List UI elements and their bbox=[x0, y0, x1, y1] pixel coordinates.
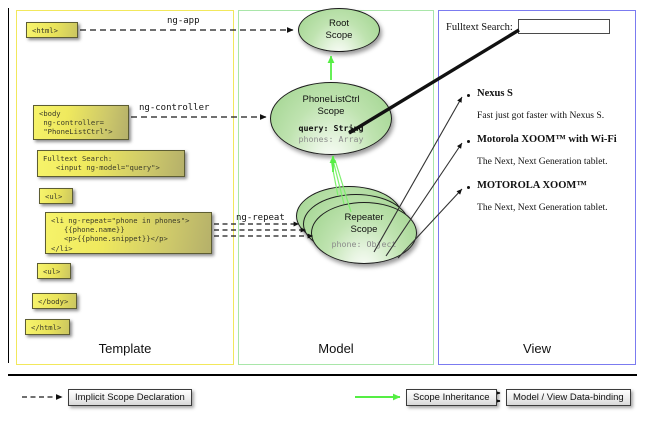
label-ng-repeat: ng-repeat bbox=[236, 213, 285, 223]
scope-field-phones: phones: Array bbox=[271, 134, 391, 145]
view-phone-name-0: Nexus S bbox=[477, 88, 513, 99]
view-phone-snippet-2: The Next, Next Generation tablet. bbox=[477, 202, 608, 213]
left-frame-rule bbox=[8, 8, 9, 363]
code-li-repeat-snippet: <li ng-repeat="phone in phones"> {{phone… bbox=[45, 212, 212, 254]
code-html-open-tag: <html> bbox=[26, 22, 78, 38]
view-phone-name-1: Motorola XOOM™ with Wi-Fi bbox=[477, 134, 617, 145]
view-bullet-1 bbox=[467, 140, 470, 143]
legend-implicit-scope-declaration: Implicit Scope Declaration bbox=[68, 389, 192, 406]
scope-repeater-line2: Scope bbox=[312, 224, 416, 236]
legend-model-view-data-binding: Model / View Data-binding bbox=[506, 389, 631, 406]
view-bullet-0 bbox=[467, 94, 470, 97]
panel-view-label: View bbox=[439, 341, 635, 356]
view-phone-snippet-0: Fast just got faster with Nexus S. bbox=[477, 110, 604, 121]
scope-field-phone: phone: Object bbox=[312, 239, 416, 250]
panel-model-label: Model bbox=[239, 341, 433, 356]
code-body-open-tag: <body ng-controller= "PhoneListCtrl"> bbox=[33, 105, 129, 140]
code-ul-open-tag: <ul> bbox=[39, 188, 73, 204]
scope-phonelistctrl-line2: Scope bbox=[271, 106, 391, 118]
scope-root-line1: Root bbox=[299, 18, 379, 30]
legend-divider bbox=[8, 374, 637, 376]
view-search-label: Fulltext Search: bbox=[446, 22, 513, 33]
diagram-canvas: Template Model View <html> <body ng-cont… bbox=[0, 0, 645, 425]
scope-root-line2: Scope bbox=[299, 30, 379, 42]
view-search-input[interactable] bbox=[518, 19, 610, 34]
code-ul-close-tag: <ul> bbox=[37, 263, 71, 279]
view-bullet-2 bbox=[467, 186, 470, 189]
scope-phonelistctrl: PhoneListCtrl Scope query: String phones… bbox=[270, 82, 392, 155]
label-ng-app: ng-app bbox=[167, 16, 200, 26]
scope-field-query: query: String bbox=[271, 123, 391, 134]
code-body-close-tag: </body> bbox=[32, 293, 77, 309]
view-phone-snippet-1: The Next, Next Generation tablet. bbox=[477, 156, 608, 167]
view-phone-name-2: MOTOROLA XOOM™ bbox=[477, 180, 587, 191]
legend-scope-inheritance: Scope Inheritance bbox=[406, 389, 497, 406]
panel-template-label: Template bbox=[17, 341, 233, 356]
scope-repeater-line1: Repeater bbox=[312, 212, 416, 224]
scope-root: Root Scope bbox=[298, 8, 380, 52]
code-html-close-tag: </html> bbox=[25, 319, 70, 335]
scope-repeater: Repeater Scope phone: Object bbox=[311, 202, 417, 264]
code-search-input-snippet: Fulltext Search: <input ng-model="query"… bbox=[37, 150, 185, 177]
label-ng-controller: ng-controller bbox=[139, 103, 209, 113]
scope-phonelistctrl-line1: PhoneListCtrl bbox=[271, 94, 391, 106]
